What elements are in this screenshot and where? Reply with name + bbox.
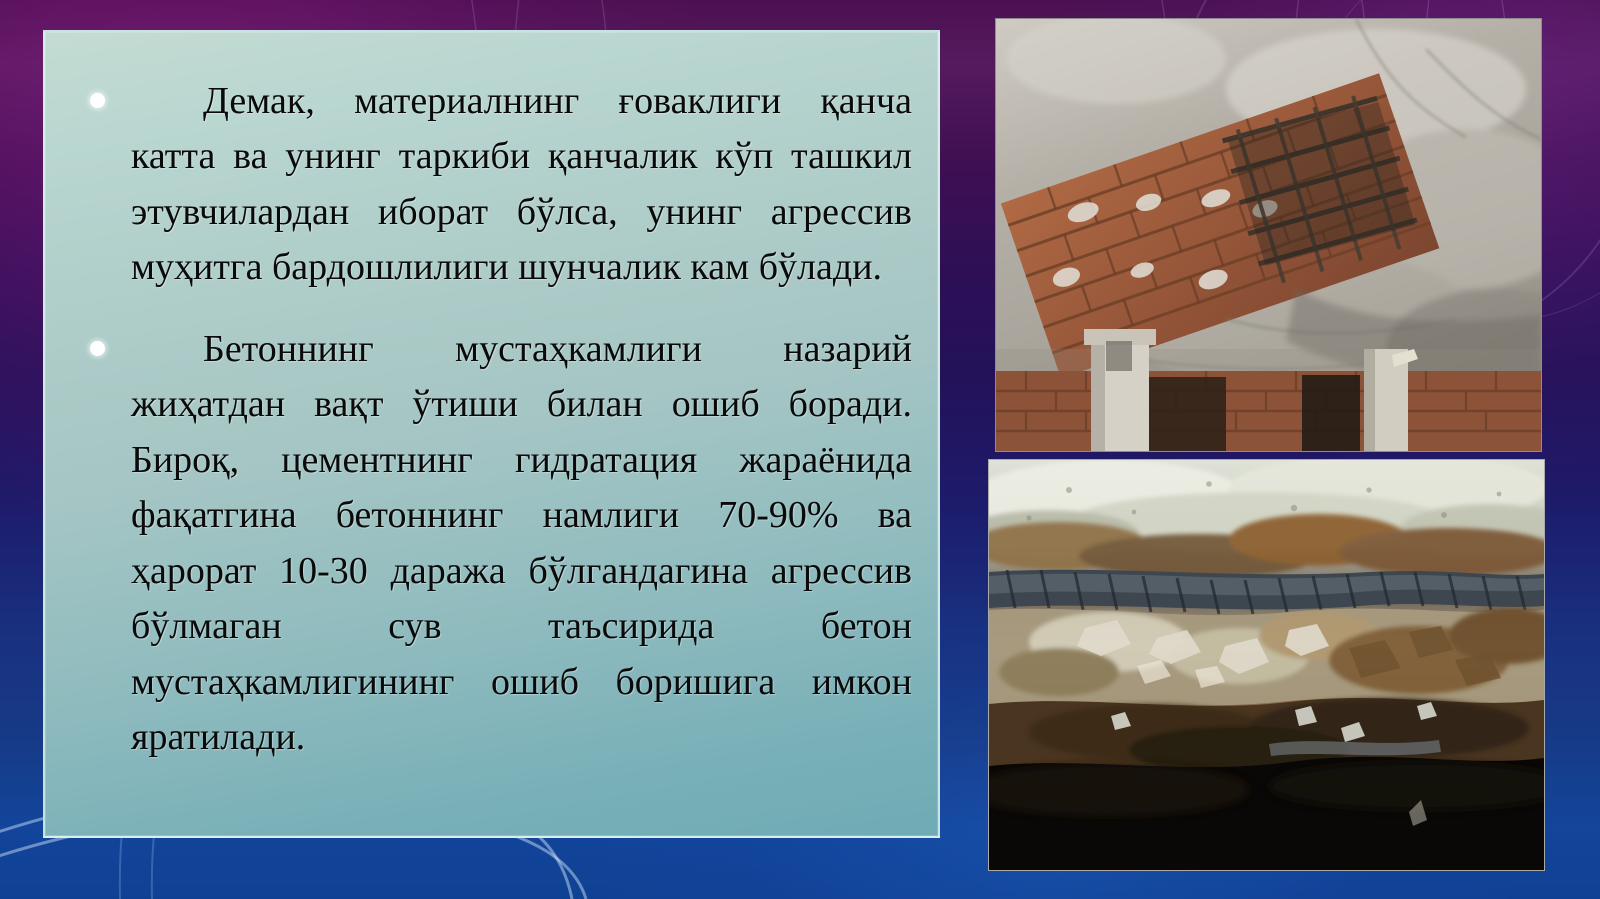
bullet-paragraph-1: Демак, материалнинг ғоваклиги қанча катт… [83, 74, 912, 296]
content-textbox: Демак, материалнинг ғоваклиги қанча катт… [43, 30, 940, 838]
presentation-slide: Демак, материалнинг ғоваклиги қанча катт… [0, 0, 1600, 899]
bullet-paragraph-1-text: Демак, материалнинг ғоваклиги қанча катт… [131, 80, 912, 288]
damaged-concrete-ceiling-photo [995, 18, 1542, 452]
bullet-dot-icon [90, 341, 105, 356]
bullet-paragraph-2-text: Бетоннинг мустаҳкамлиги назарий жиҳатдан… [131, 328, 912, 758]
bullet-paragraph-2: Бетоннинг мустаҳкамлиги назарий жиҳатдан… [83, 322, 912, 766]
bullet-dot-icon [90, 93, 105, 108]
corroded-rebar-cross-section-photo [988, 459, 1545, 871]
